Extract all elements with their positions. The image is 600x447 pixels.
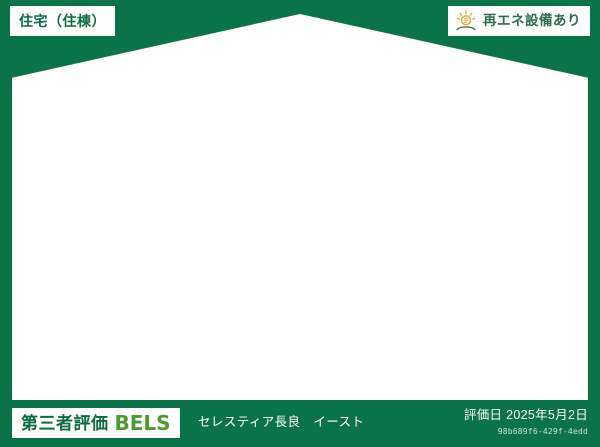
building-type-label: 住宅（住棟） — [19, 14, 106, 28]
property-name: セレスティア長良 イースト — [198, 416, 364, 429]
evaluation-date: 評価日 2025年5月2日 — [464, 409, 588, 422]
bels-badge: 第三者評価 BELS — [12, 408, 180, 438]
sun-icon — [454, 10, 478, 32]
energy-performance-label: 住宅（住棟） 再エネ設備あり 建築物省エネ法に基づく 省エネ性能ラベル — [0, 0, 600, 447]
renewable-equipment-label: 再エネ設備あり — [483, 14, 581, 28]
renewable-equipment-badge: 再エネ設備あり — [448, 6, 590, 36]
label-footer: 第三者評価 BELS セレスティア長良 イースト 評価日 2025年5月2日 9… — [0, 400, 600, 447]
evaluation-date-label: 評価日 — [464, 408, 502, 422]
building-type-badge: 住宅（住棟） — [10, 6, 115, 36]
bels-en-label: BELS — [115, 413, 171, 433]
footer-meta: 評価日 2025年5月2日 98b689f6-429f-4edd — [464, 409, 588, 436]
bels-jp-label: 第三者評価 — [21, 415, 109, 432]
evaluation-date-value: 2025年5月2日 — [506, 408, 588, 422]
document-id: 98b689f6-429f-4edd — [464, 428, 588, 436]
label-card — [12, 14, 588, 400]
